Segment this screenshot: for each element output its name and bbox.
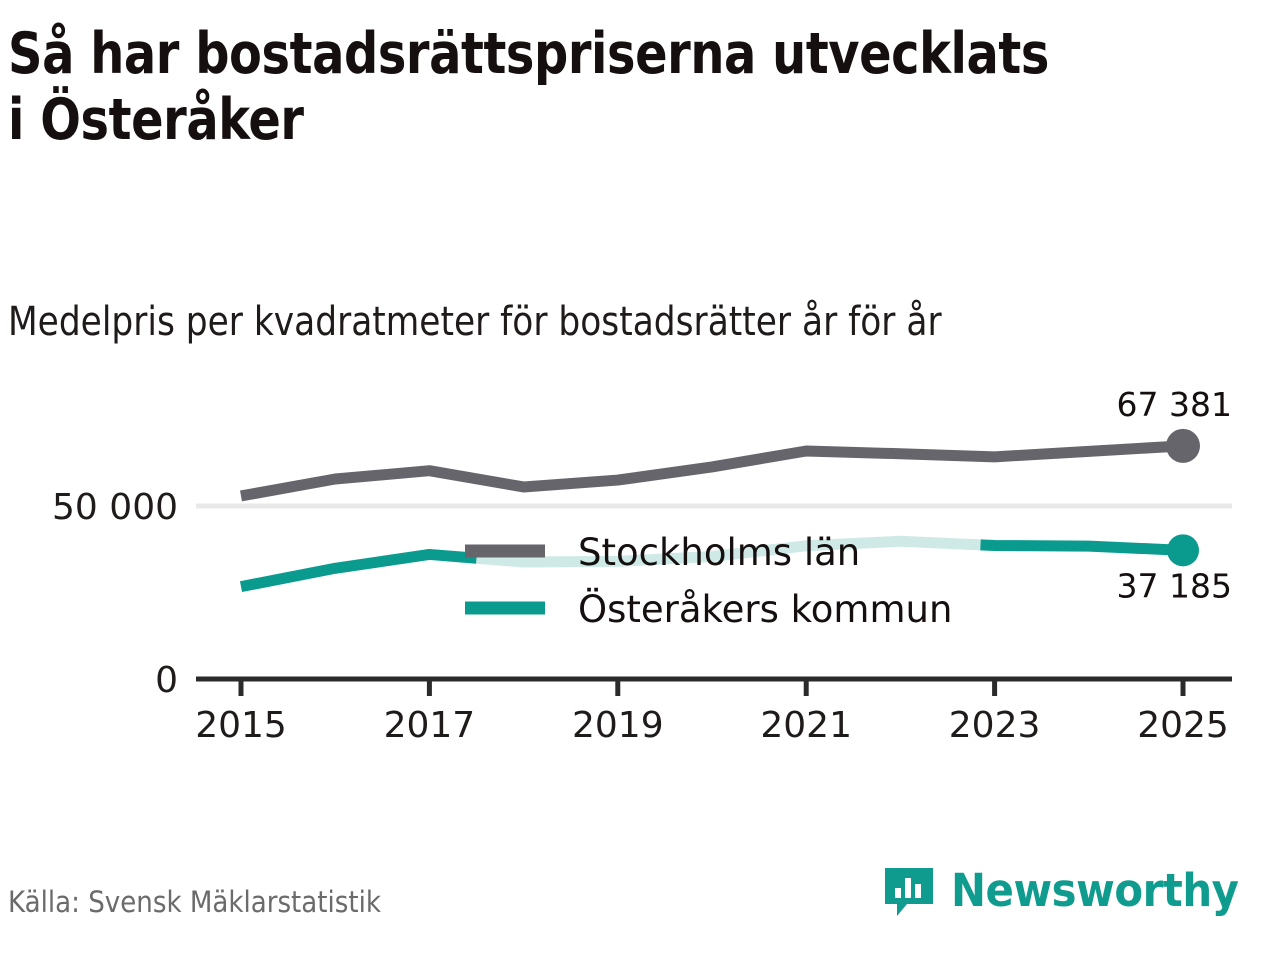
brand-logo: Newsworthy: [881, 862, 1260, 918]
x-tick-label-2015: 2015: [195, 705, 287, 746]
series-line-osteraker-right: [980, 545, 1183, 551]
legend-label-stockholm: Stockholms län: [578, 531, 860, 574]
chart-subtitle: Medelpris per kvadratmeter för bostadsrä…: [8, 300, 942, 344]
x-tick-label-2021: 2021: [760, 705, 852, 746]
x-axis-ticks: [241, 679, 1183, 696]
value-label-stockholm: 67 381: [1117, 385, 1232, 424]
y-tick-label-0: 0: [155, 660, 178, 701]
page-title: Så har bostadsrättspriserna utvecklats i…: [8, 22, 1070, 153]
series-line-stockholm: [241, 446, 1183, 496]
end-marker-osteraker: [1167, 534, 1199, 566]
x-tick-label-2019: 2019: [572, 705, 664, 746]
x-tick-label-2025: 2025: [1137, 705, 1229, 746]
chart-svg: 50 000 0 67 381 37 185 Stockholms län Ös…: [0, 380, 1280, 760]
legend-label-osteraker: Österåkers kommun: [578, 588, 952, 631]
x-axis-tick-labels: 201520172019202120232025: [195, 705, 1229, 746]
end-marker-stockholm: [1166, 429, 1200, 463]
x-tick-label-2023: 2023: [949, 705, 1041, 746]
chart-page: Så har bostadsrättspriserna utvecklats i…: [0, 0, 1280, 960]
value-label-osteraker: 37 185: [1117, 566, 1232, 605]
series-line-osteraker-left: [241, 554, 477, 586]
newsworthy-bar-chart-icon: [881, 862, 937, 918]
line-chart: 50 000 0 67 381 37 185 Stockholms län Ös…: [0, 380, 1280, 760]
x-tick-label-2017: 2017: [384, 705, 476, 746]
brand-name: Newsworthy: [951, 864, 1238, 917]
source-note: Källa: Svensk Mäklarstatistik: [8, 885, 381, 919]
y-tick-label-50000: 50 000: [52, 487, 178, 528]
